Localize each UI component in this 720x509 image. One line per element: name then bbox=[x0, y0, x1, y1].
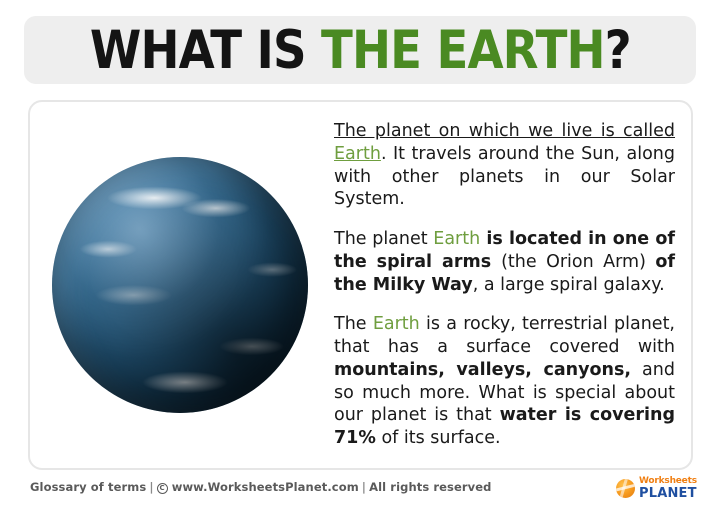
earth-image-pane bbox=[30, 102, 330, 468]
footer-website-link[interactable]: www.WorksheetsPlanet.com bbox=[172, 480, 359, 494]
p2-green-keyword: Earth bbox=[433, 229, 480, 249]
footer-separator-2: | bbox=[359, 480, 369, 494]
planet-ball-icon bbox=[616, 479, 635, 498]
p2-normal-2: , a large spiral galaxy. bbox=[473, 275, 665, 295]
title-part-dark: WHAT IS bbox=[90, 20, 321, 81]
content-card: The planet on which we live is called Ea… bbox=[28, 100, 693, 470]
p1-green-keyword: Earth bbox=[334, 144, 381, 164]
paragraph-2: The planet Earth is located in one of th… bbox=[334, 228, 675, 296]
p3-bold-1: mountains, valleys, canyons, bbox=[334, 360, 631, 380]
definition-text-pane: The planet on which we live is called Ea… bbox=[330, 102, 691, 460]
footer-rights-label: All rights reserved bbox=[369, 480, 491, 494]
p3-normal-3: of its surface. bbox=[376, 428, 501, 448]
logo-top-word: Worksheets bbox=[639, 477, 697, 486]
worksheet-page: WHAT IS THE EARTH? The planet on which w… bbox=[0, 0, 720, 509]
p3-lead: The bbox=[334, 314, 373, 334]
footer-bar: Glossary of terms|C www.WorksheetsPlanet… bbox=[0, 478, 720, 509]
paragraph-3: The Earth is a rocky, terrestrial planet… bbox=[334, 313, 675, 450]
copyright-icon: C bbox=[157, 483, 168, 494]
title-part-green: THE EARTH bbox=[321, 20, 605, 81]
footer-credits: Glossary of terms|C www.WorksheetsPlanet… bbox=[30, 480, 492, 494]
title-banner: WHAT IS THE EARTH? bbox=[24, 16, 696, 84]
footer-glossary-label: Glossary of terms bbox=[30, 480, 146, 494]
title-question-mark: ? bbox=[604, 20, 630, 81]
earth-globe-image bbox=[52, 157, 308, 413]
paragraph-1: The planet on which we live is called Ea… bbox=[334, 120, 675, 211]
logo-wordmark: Worksheets PLANET bbox=[639, 477, 697, 500]
earth-landmasses bbox=[52, 157, 308, 413]
p2-normal-1: (the Orion Arm) bbox=[501, 252, 655, 272]
p2-lead: The planet bbox=[334, 229, 433, 249]
p1-underlined-lead: The planet on which we live is called bbox=[334, 121, 675, 141]
page-title: WHAT IS THE EARTH? bbox=[90, 24, 631, 77]
p3-green-keyword: Earth bbox=[373, 314, 420, 334]
footer-separator-1: | bbox=[146, 480, 156, 494]
earth-sphere bbox=[52, 157, 308, 413]
worksheets-planet-logo[interactable]: Worksheets PLANET bbox=[616, 474, 708, 502]
logo-bottom-word: PLANET bbox=[639, 487, 697, 500]
p1-rest: . It travels around the Sun, along with … bbox=[334, 144, 675, 210]
